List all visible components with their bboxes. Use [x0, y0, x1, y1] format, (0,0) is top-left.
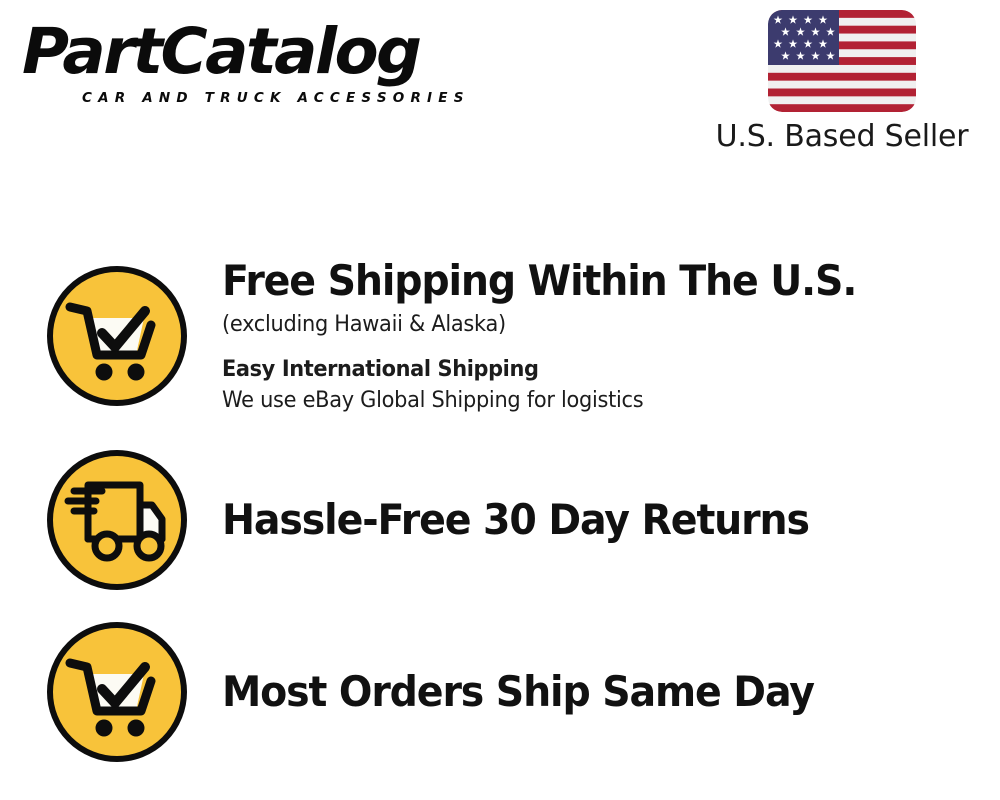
feature-row: Hassle-Free 30 Day Returns — [0, 434, 1000, 606]
feature-row: Free Shipping Within The U.S. (excluding… — [0, 238, 1000, 434]
feature-heading: Most Orders Ship Same Day — [222, 668, 953, 716]
us-based-seller-badge: U.S. Based Seller — [692, 10, 992, 154]
page-header: PartCatalog CAR AND TRUCK ACCESSORIES — [0, 0, 1000, 170]
feature-text: Free Shipping Within The U.S. (excluding… — [222, 257, 1000, 416]
feature-text: Most Orders Ship Same Day — [222, 668, 1000, 716]
feature-heading: Free Shipping Within The U.S. — [222, 257, 953, 305]
brand-logo[interactable]: PartCatalog CAR AND TRUCK ACCESSORIES — [22, 18, 492, 118]
shopping-cart-check-icon — [44, 619, 190, 765]
feature-subtext: We use eBay Global Shipping for logistic… — [222, 385, 961, 416]
feature-row: Most Orders Ship Same Day — [0, 606, 1000, 778]
shopping-cart-check-icon — [44, 263, 190, 409]
feature-subtext: (excluding Hawaii & Alaska) — [222, 309, 961, 340]
feature-list: Free Shipping Within The U.S. (excluding… — [0, 238, 1000, 778]
us-flag-icon — [768, 10, 916, 112]
brand-wordmark: PartCatalog — [22, 18, 501, 86]
us-based-seller-label: U.S. Based Seller — [716, 120, 969, 154]
brand-tagline: CAR AND TRUCK ACCESSORIES — [82, 90, 470, 106]
feature-subtext-strong: Easy International Shipping — [222, 354, 961, 385]
delivery-truck-icon — [44, 447, 190, 593]
feature-heading: Hassle-Free 30 Day Returns — [222, 496, 953, 544]
feature-text: Hassle-Free 30 Day Returns — [222, 496, 1000, 544]
